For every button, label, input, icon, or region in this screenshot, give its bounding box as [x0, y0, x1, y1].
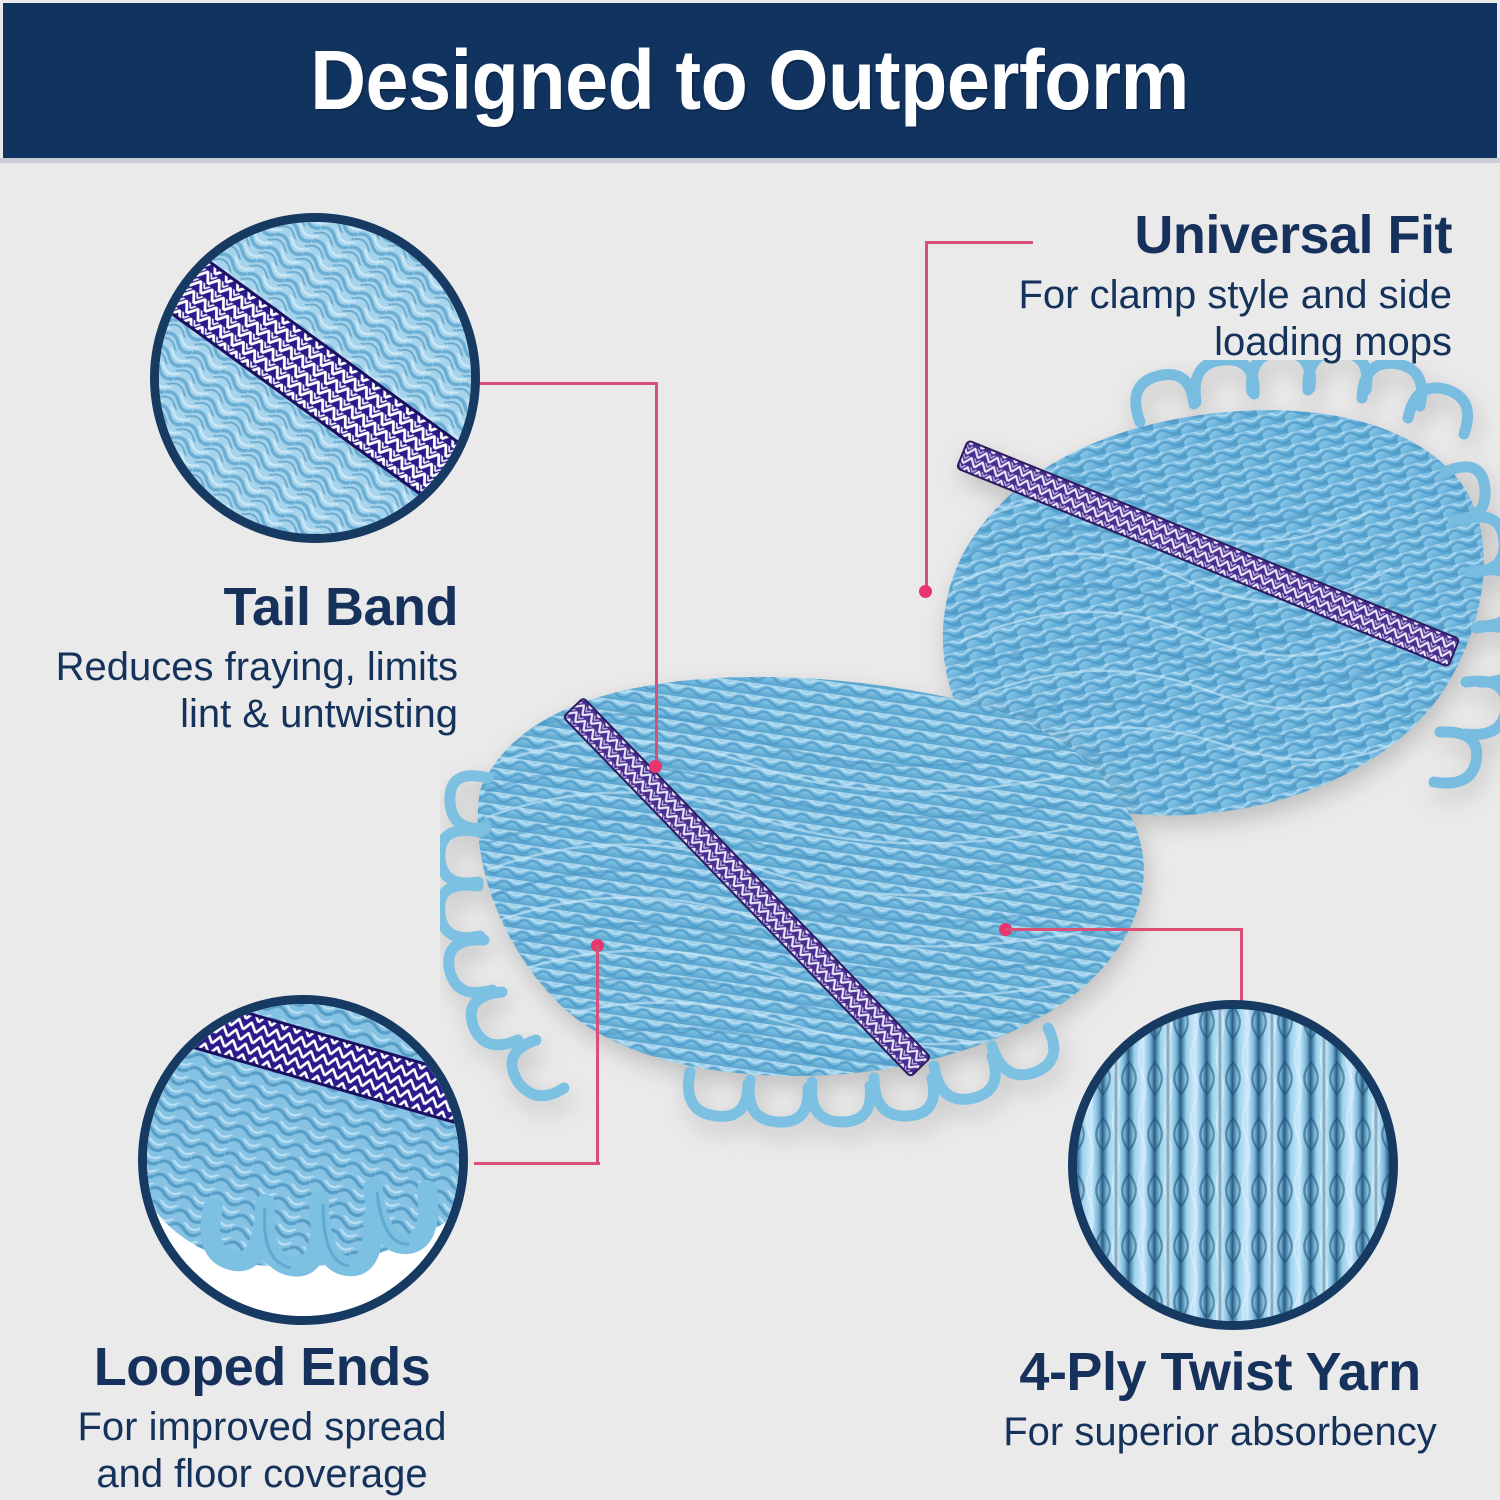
connector-looped-ends-vertical [596, 945, 599, 1164]
connector-tail-band-horizontal [478, 382, 658, 385]
connector-tail-band-vertical [655, 382, 658, 766]
page-title: Designed to Outperform [311, 32, 1190, 129]
callout-looped-ends: Looped Ends For improved spread and floo… [22, 1340, 502, 1498]
callout-looped-ends-line1: For improved spread [22, 1404, 502, 1451]
callout-tail-band-heading: Tail Band [0, 580, 458, 634]
connector-universal-fit-vertical [925, 241, 928, 591]
twist-yarn-closeup-image [1068, 1000, 1398, 1330]
connector-dot-tail-band [649, 760, 662, 773]
connector-four-ply-vertical [1240, 928, 1243, 1002]
tail-band-closeup-image [150, 213, 480, 543]
callout-universal-fit-line2: loading mops [932, 319, 1452, 366]
connector-dot-universal-fit [919, 585, 932, 598]
callout-looped-ends-line2: and floor coverage [22, 1451, 502, 1498]
looped-ends-closeup-image [138, 995, 468, 1325]
callout-looped-ends-heading: Looped Ends [22, 1340, 502, 1394]
callout-four-ply-heading: 4-Ply Twist Yarn [960, 1345, 1480, 1399]
callout-universal-fit-heading: Universal Fit [932, 208, 1452, 262]
callout-universal-fit: Universal Fit For clamp style and side l… [932, 208, 1452, 366]
callout-tail-band: Tail Band Reduces fraying, limits lint &… [0, 580, 458, 738]
connector-four-ply-horizontal [1005, 928, 1243, 931]
banner-underline [0, 158, 1500, 163]
infographic-canvas: Designed to Outperform [0, 0, 1500, 1500]
callout-four-ply-line1: For superior absorbency [960, 1409, 1480, 1456]
callout-tail-band-line2: lint & untwisting [0, 691, 458, 738]
callout-tail-band-line1: Reduces fraying, limits [0, 644, 458, 691]
header-banner: Designed to Outperform [3, 3, 1497, 158]
callout-universal-fit-line1: For clamp style and side [932, 272, 1452, 319]
callout-four-ply-twist-yarn: 4-Ply Twist Yarn For superior absorbency [960, 1345, 1480, 1456]
connector-looped-ends-horizontal [474, 1162, 600, 1165]
